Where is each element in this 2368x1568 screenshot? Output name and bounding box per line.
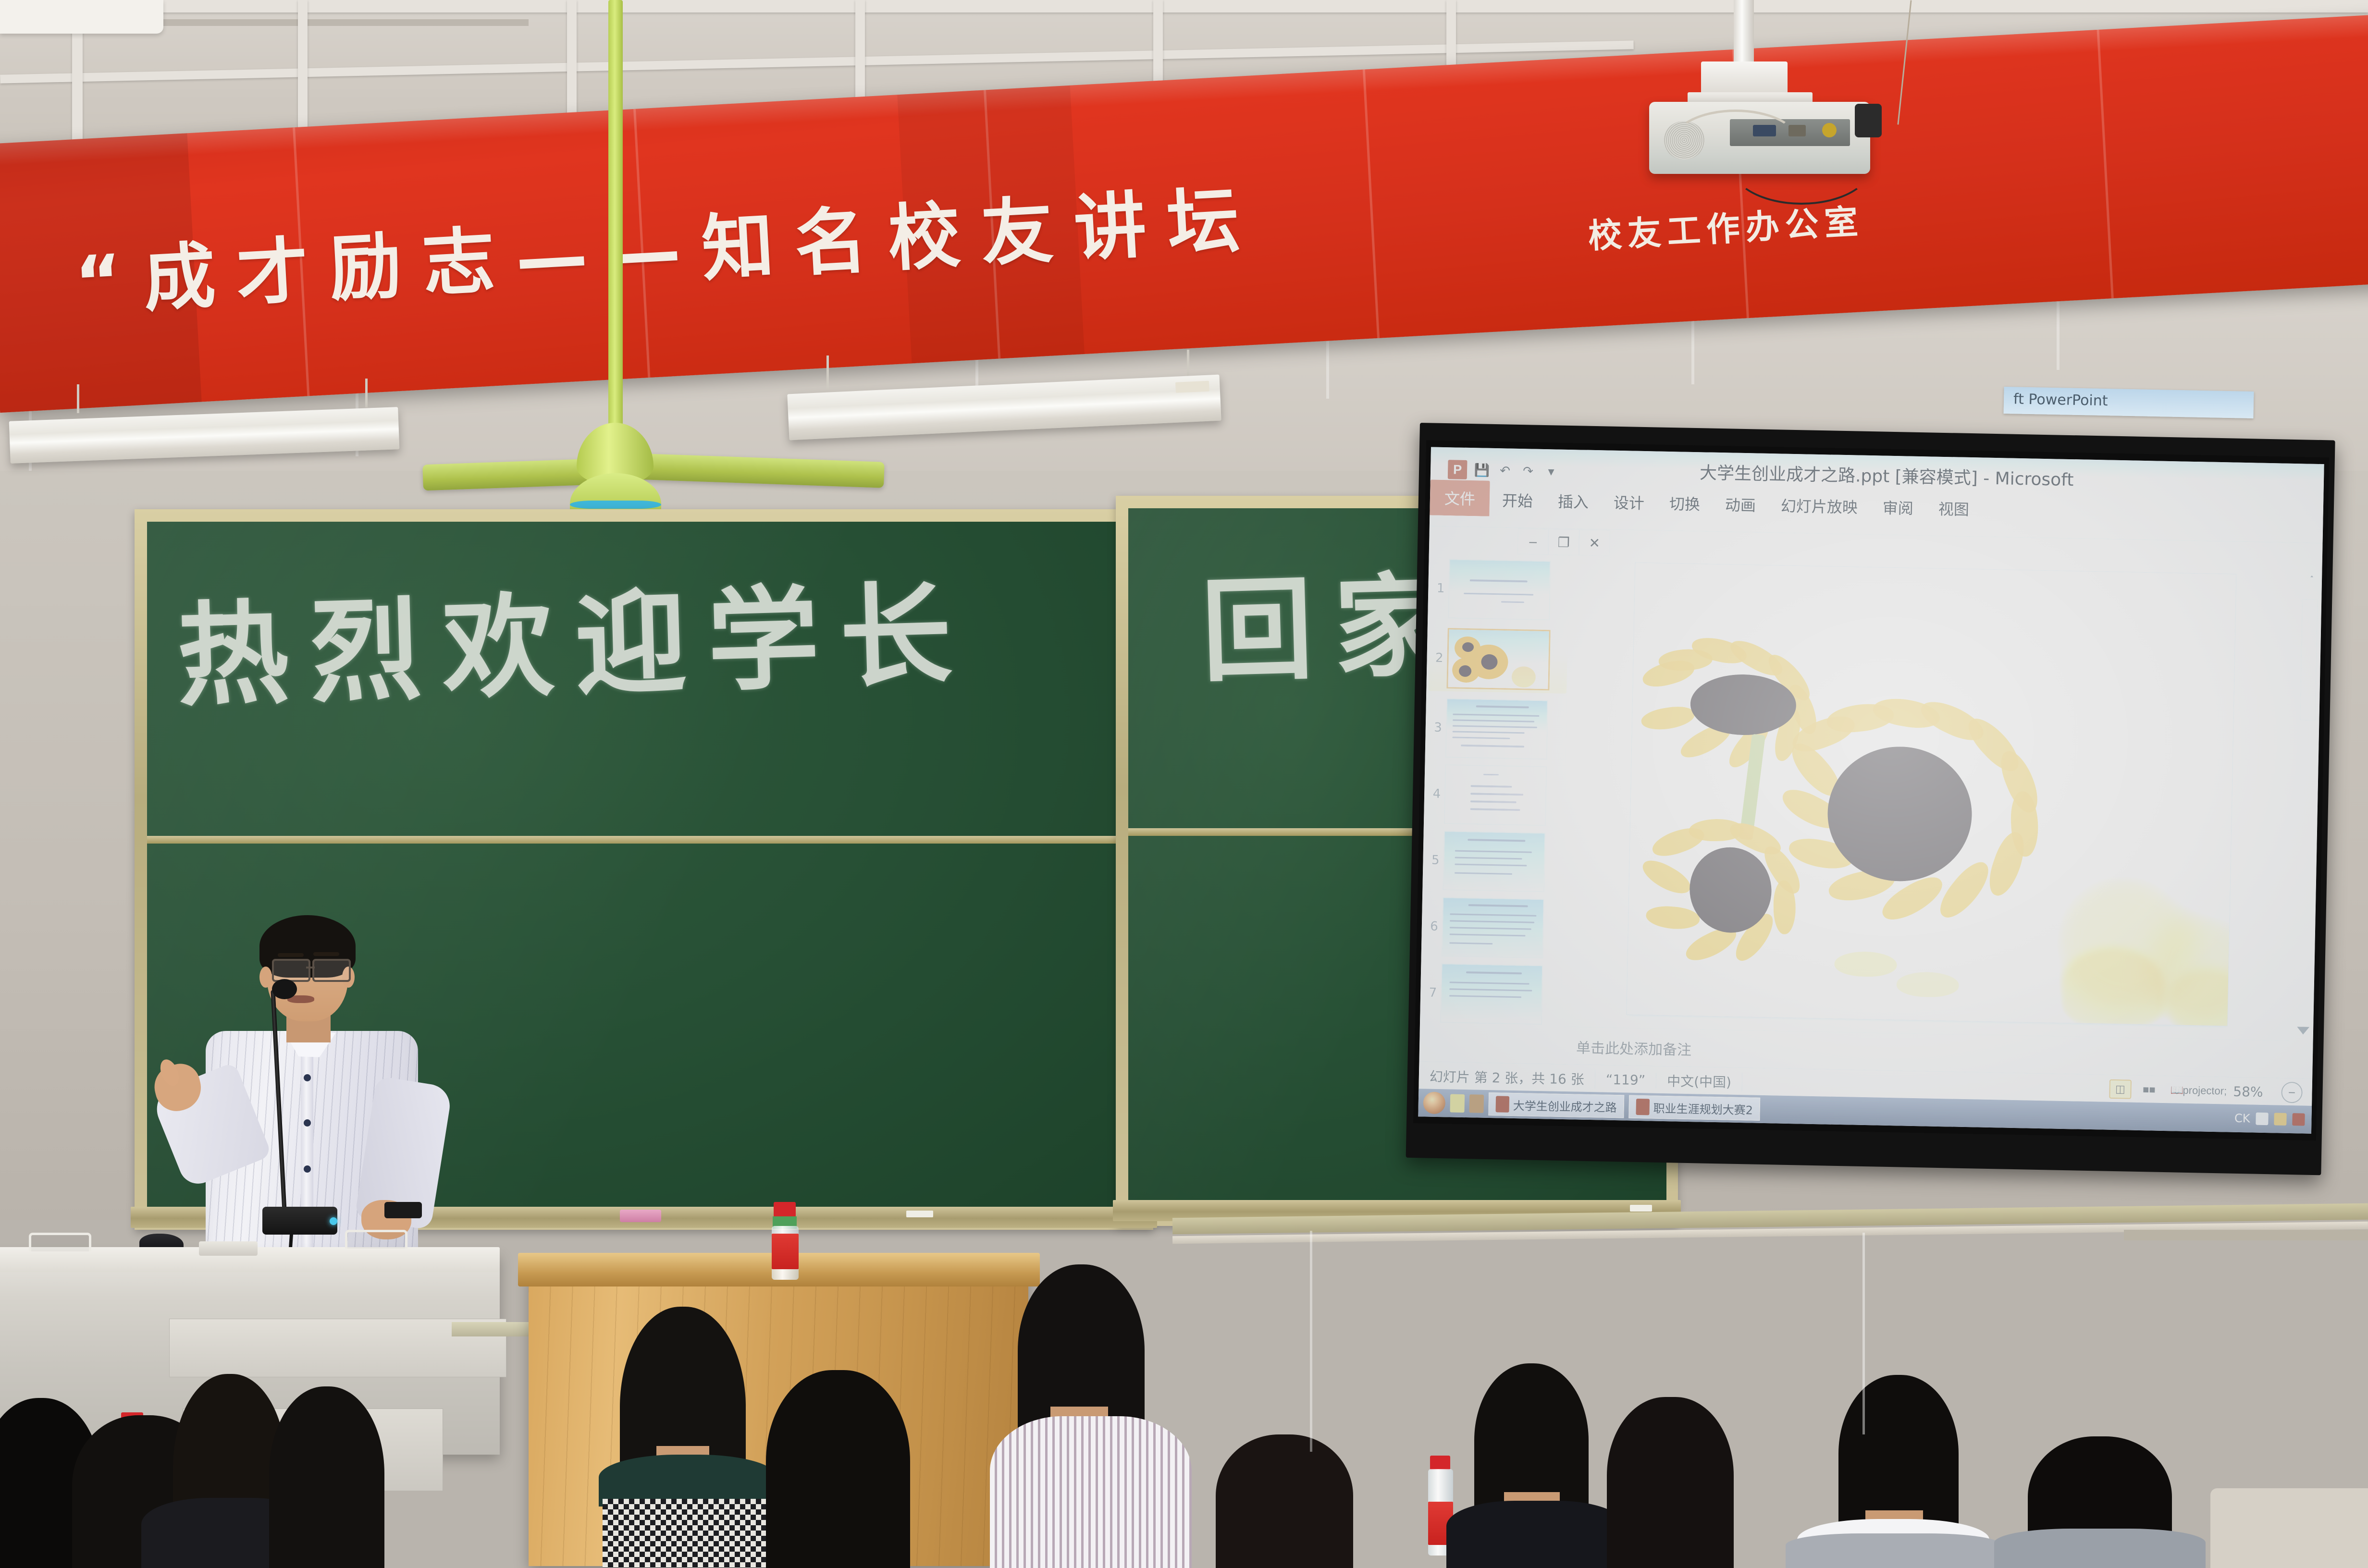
thumbnail-image[interactable] bbox=[1446, 628, 1550, 690]
customize-icon[interactable]: ▾ bbox=[1543, 463, 1560, 480]
wall-seam bbox=[1862, 1233, 1865, 1434]
audience-body bbox=[603, 1499, 776, 1568]
scrollbar-thumb[interactable] bbox=[2300, 599, 2318, 721]
scroll-down-icon[interactable] bbox=[2297, 1027, 2309, 1034]
thumbnail-5[interactable]: 5 bbox=[1424, 830, 1564, 893]
screen-top-sliver: ft PowerPoint bbox=[2004, 387, 2254, 418]
tab-slideshow[interactable]: 幻灯片放映 bbox=[1768, 491, 1870, 524]
thumbnail-number: 4 bbox=[1426, 786, 1441, 801]
thumbnail-image[interactable] bbox=[1445, 698, 1548, 759]
ceiling-beam bbox=[0, 0, 2368, 12]
thumbnail-2[interactable]: 2 bbox=[1428, 625, 1568, 694]
shirt-button bbox=[304, 1074, 311, 1081]
normal-view-icon[interactable]: ◫ bbox=[2109, 1079, 2132, 1099]
tab-animations[interactable]: 动画 bbox=[1712, 490, 1768, 522]
wall-seam bbox=[1310, 1231, 1312, 1452]
quick-access-toolbar[interactable]: P 💾 ↶ ↷ ▾ bbox=[1448, 460, 1560, 481]
audience-desk bbox=[2210, 1488, 2368, 1568]
thumbnail-3[interactable]: 3 bbox=[1427, 698, 1566, 760]
taskbar-item-ppt-1[interactable]: 大学生创业成才之路 bbox=[1488, 1092, 1624, 1118]
thumbnail-number: 1 bbox=[1430, 581, 1445, 596]
microphone-base bbox=[262, 1207, 337, 1235]
audience-body bbox=[1446, 1501, 1625, 1568]
redo-icon[interactable]: ↷ bbox=[1520, 463, 1537, 479]
thumbnail-number: 5 bbox=[1425, 853, 1440, 868]
close-icon[interactable]: ✕ bbox=[1579, 529, 1610, 556]
projection-screen: 大学生创业成才之路.ppt [兼容模式] - Microsoft P 💾 ↶ ↷… bbox=[1406, 423, 2335, 1175]
powerpoint-icon bbox=[1636, 1099, 1650, 1115]
tab-home[interactable]: 开始 bbox=[1489, 486, 1545, 517]
powerpoint-app-icon: P bbox=[1448, 460, 1468, 479]
ceiling-rib bbox=[567, 0, 577, 130]
banner-sub-text: 校友工作办公室 bbox=[1587, 195, 1865, 258]
desk-handle[interactable] bbox=[29, 1233, 91, 1251]
shirt-button bbox=[304, 1165, 311, 1173]
minimize-icon[interactable]: – bbox=[1517, 528, 1549, 555]
speaker-ear bbox=[259, 967, 272, 988]
zoom-level[interactable]: 58% bbox=[2222, 1083, 2274, 1100]
tab-insert[interactable]: 插入 bbox=[1545, 487, 1601, 518]
tab-file[interactable]: 文件 bbox=[1430, 479, 1490, 516]
taskbar-icon[interactable] bbox=[1469, 1094, 1484, 1113]
chalk-piece bbox=[906, 1211, 933, 1217]
undo-icon[interactable]: ↶ bbox=[1497, 462, 1514, 479]
microphone-led-icon bbox=[330, 1217, 337, 1225]
speaker-eyebrow bbox=[313, 952, 339, 956]
speaker-eyebrow bbox=[278, 953, 304, 957]
thumbnail-image[interactable] bbox=[1448, 559, 1551, 620]
shirt-button bbox=[304, 1119, 311, 1127]
drawer-slide-rail bbox=[452, 1322, 533, 1336]
thumbnail-image[interactable] bbox=[1440, 963, 1543, 1025]
audience-head bbox=[1607, 1397, 1734, 1568]
thumbnail-number: 7 bbox=[1422, 985, 1437, 1000]
board-eraser bbox=[620, 1210, 661, 1222]
fan-down-rod bbox=[608, 0, 623, 432]
language-indicator[interactable]: 中文(中国) bbox=[1656, 1071, 1743, 1091]
audience-body bbox=[1786, 1533, 2002, 1568]
save-icon[interactable]: 💾 bbox=[1474, 462, 1491, 478]
lecture-hall-photo: “成才励志——知名校友讲坛 校友工作办公室 热烈欢迎学长 回家 ft bbox=[0, 0, 2368, 1568]
desk-handle[interactable] bbox=[345, 1230, 407, 1249]
thumbnail-image[interactable] bbox=[1442, 897, 1544, 958]
glasses-lens-right bbox=[312, 959, 351, 982]
start-button-icon[interactable] bbox=[1423, 1091, 1445, 1114]
thumbnail-4[interactable]: 4 bbox=[1426, 764, 1565, 826]
chalk-text-left: 热烈欢迎学长 bbox=[175, 544, 975, 727]
slide-editing-area[interactable] bbox=[1564, 556, 2298, 1039]
audience-head bbox=[269, 1386, 384, 1568]
ceiling-rib bbox=[298, 0, 308, 144]
glasses-lens-left bbox=[272, 959, 310, 982]
presenter-remote[interactable] bbox=[384, 1202, 422, 1218]
audience-body bbox=[990, 1416, 1192, 1568]
tray-ime-indicator[interactable]: CK bbox=[2234, 1112, 2250, 1126]
banner-main-text: “成才励志——知名校友讲坛 bbox=[72, 161, 1263, 329]
theme-name: “119” bbox=[1595, 1071, 1656, 1088]
glasses-bridge bbox=[306, 967, 315, 968]
slide-counter: 幻灯片 第 2 张，共 16 张 bbox=[1419, 1066, 1596, 1089]
audience-head bbox=[1216, 1434, 1353, 1568]
thumbnail-number: 6 bbox=[1424, 919, 1439, 934]
speaker-shirt-placket bbox=[301, 1050, 313, 1276]
thumbnail-image[interactable] bbox=[1443, 831, 1545, 892]
desk-tray-item bbox=[199, 1241, 258, 1256]
taskbar-item-label: 大学生创业成才之路 bbox=[1513, 1096, 1617, 1115]
tray-icon[interactable] bbox=[2292, 1113, 2305, 1126]
projector-cable-plug bbox=[1855, 104, 1882, 137]
thumbnail-number: 2 bbox=[1429, 650, 1443, 665]
notes-placeholder: 单击此处添加备注 bbox=[1576, 1036, 1692, 1059]
thumbnail-6[interactable]: 6 bbox=[1423, 896, 1563, 959]
tab-design[interactable]: 设计 bbox=[1601, 488, 1657, 519]
wall-trim bbox=[2124, 1230, 2368, 1240]
screen-canvas: 大学生创业成才之路.ppt [兼容模式] - Microsoft P 💾 ↶ ↷… bbox=[1418, 447, 2324, 1133]
projector-bracket bbox=[1701, 61, 1788, 96]
powerpoint-title-sliver: ft PowerPoint bbox=[2013, 391, 2108, 409]
audience-head bbox=[766, 1370, 910, 1568]
taskbar-item-ppt-2[interactable]: 职业生涯规划大赛2 bbox=[1628, 1095, 1760, 1121]
thumbnail-image[interactable] bbox=[1444, 764, 1547, 826]
slide-thumbnail-pane[interactable]: 1 2 bbox=[1420, 553, 1570, 1025]
taskbar-item-label: 职业生涯规划大赛2 bbox=[1653, 1099, 1753, 1117]
tab-view[interactable]: 视图 bbox=[1925, 494, 1982, 526]
powerpoint-icon bbox=[1495, 1096, 1509, 1113]
slide-sorter-icon[interactable]: ■■ bbox=[2139, 1081, 2159, 1099]
blackboard-divider bbox=[147, 836, 1141, 844]
window-title: 大学生创业成才之路.ppt [兼容模式] - Microsoft bbox=[1700, 459, 2074, 491]
tab-review[interactable]: 审阅 bbox=[1870, 493, 1926, 525]
thumbnail-7[interactable]: 7 bbox=[1422, 963, 1561, 1025]
system-tray[interactable]: CK bbox=[2234, 1112, 2312, 1127]
view-controls[interactable]: ◫ ■■ 📖 projector; 58% − bbox=[2109, 1078, 2312, 1103]
chalk-piece bbox=[1630, 1205, 1652, 1212]
taskbar-icon[interactable] bbox=[1450, 1094, 1465, 1113]
projector-signal-cable bbox=[1730, 124, 1873, 205]
ceiling-light-panel bbox=[0, 0, 163, 34]
thumbnail-1[interactable]: 1 bbox=[1430, 558, 1569, 621]
projector-pole bbox=[1734, 0, 1754, 67]
microphone-head-icon bbox=[272, 979, 297, 999]
restore-icon[interactable]: ❐ bbox=[1548, 529, 1579, 555]
powerpoint-window: 大学生创业成才之路.ppt [兼容模式] - Microsoft P 💾 ↶ ↷… bbox=[1418, 447, 2324, 1133]
slideshow-icon[interactable]: projector; bbox=[2195, 1082, 2215, 1100]
tab-transitions[interactable]: 切换 bbox=[1656, 489, 1713, 520]
zoom-out-icon[interactable]: − bbox=[2281, 1082, 2303, 1103]
window-controls[interactable]: – ❐ ✕ bbox=[1517, 528, 1610, 556]
audience-body bbox=[1994, 1529, 2206, 1568]
tray-icon[interactable] bbox=[2274, 1113, 2286, 1125]
tray-icon[interactable] bbox=[2256, 1113, 2268, 1125]
thumbnail-number: 3 bbox=[1428, 720, 1443, 735]
fan-stripe bbox=[570, 501, 661, 509]
current-slide[interactable] bbox=[1626, 563, 2236, 1027]
